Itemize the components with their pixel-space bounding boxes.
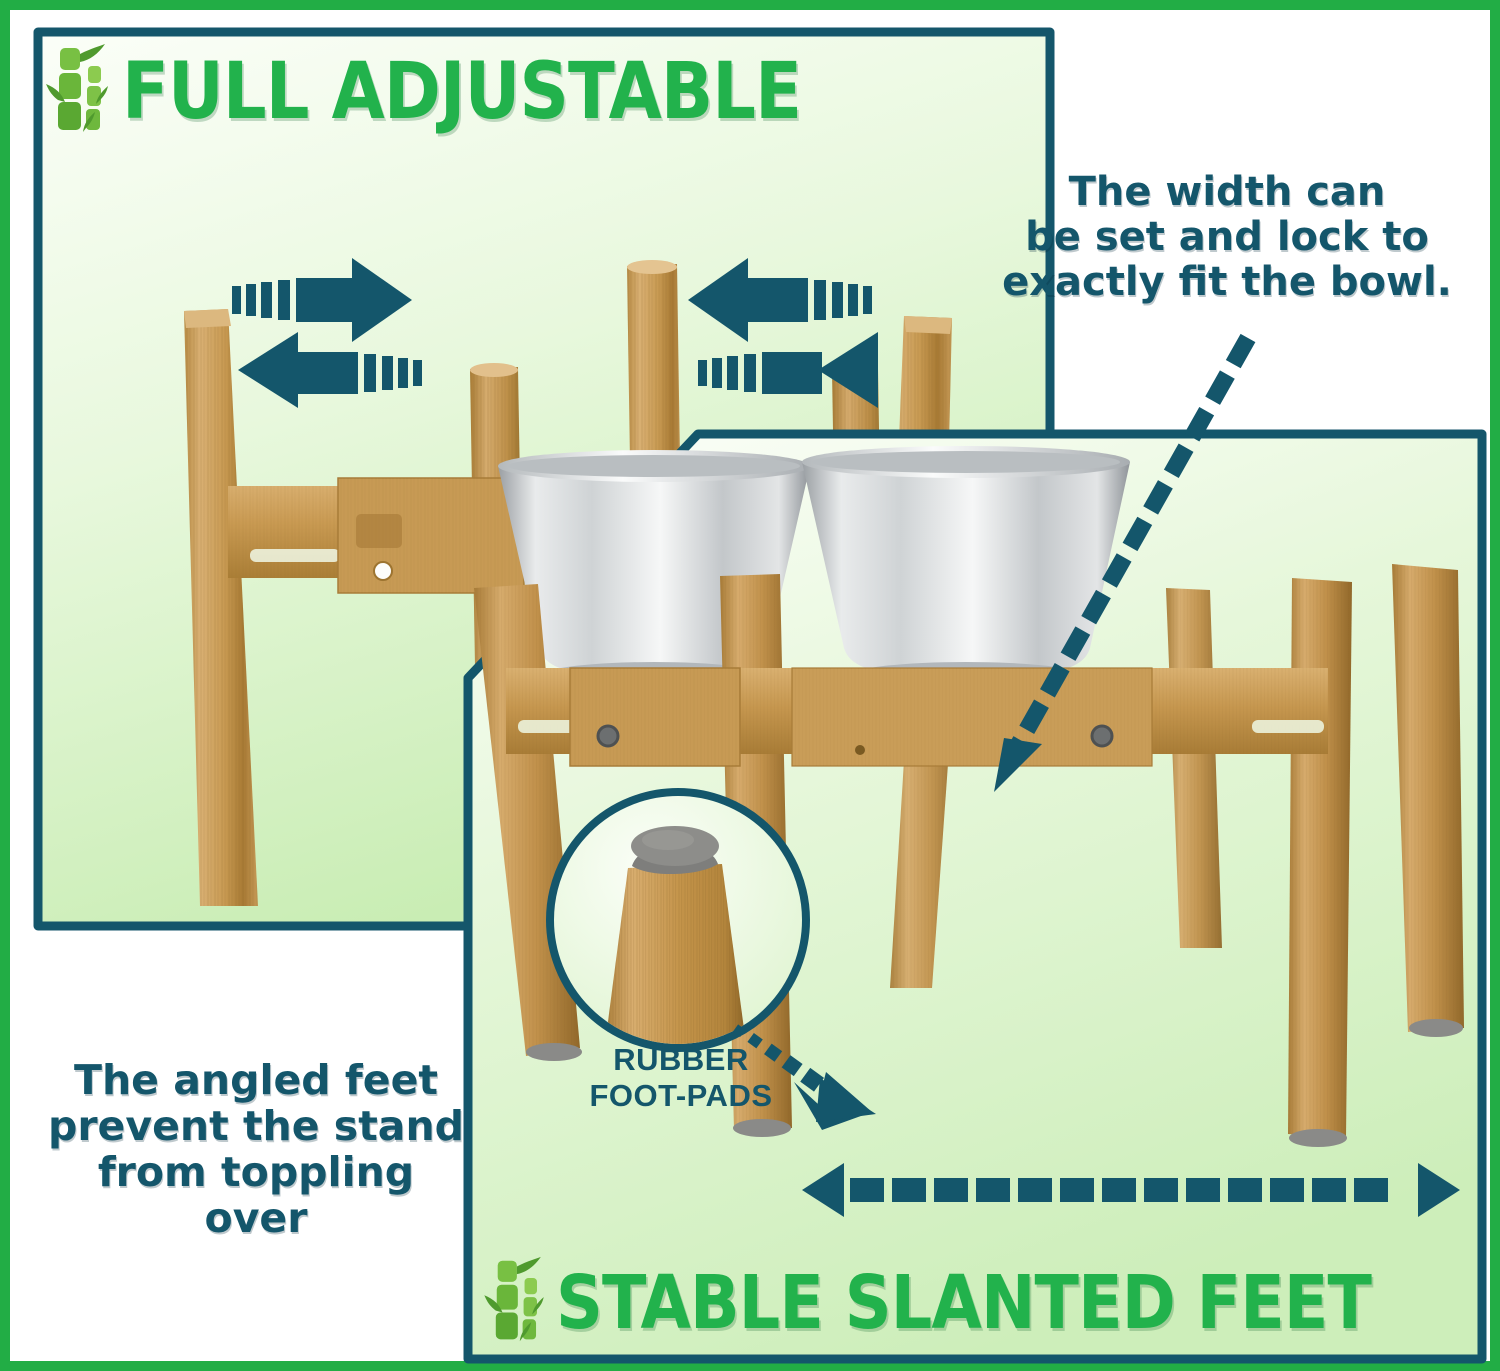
bottom-panel-title: STABLE SLANTED FEET	[484, 1255, 1482, 1351]
top-panel-title: FULL ADJUSTABLE	[46, 42, 1070, 142]
bamboo-icon	[46, 42, 108, 142]
angled-feet-note-text: The angled feet prevent the stand from t…	[46, 1058, 466, 1242]
bamboo-icon	[484, 1255, 544, 1351]
bottom-panel-headline: STABLE SLANTED FEET	[556, 1268, 1371, 1338]
rubber-foot-pads-label: RUBBER FOOT-PADS	[566, 1042, 796, 1113]
width-note-text: The width can be set and lock to exactly…	[992, 170, 1462, 304]
stable-slanted-feet-panel: STABLE SLANTED FEET	[462, 428, 1488, 1365]
outer-green-frame: FULL ADJUSTABLE	[0, 0, 1500, 1371]
top-panel-headline: FULL ADJUSTABLE	[122, 55, 801, 129]
